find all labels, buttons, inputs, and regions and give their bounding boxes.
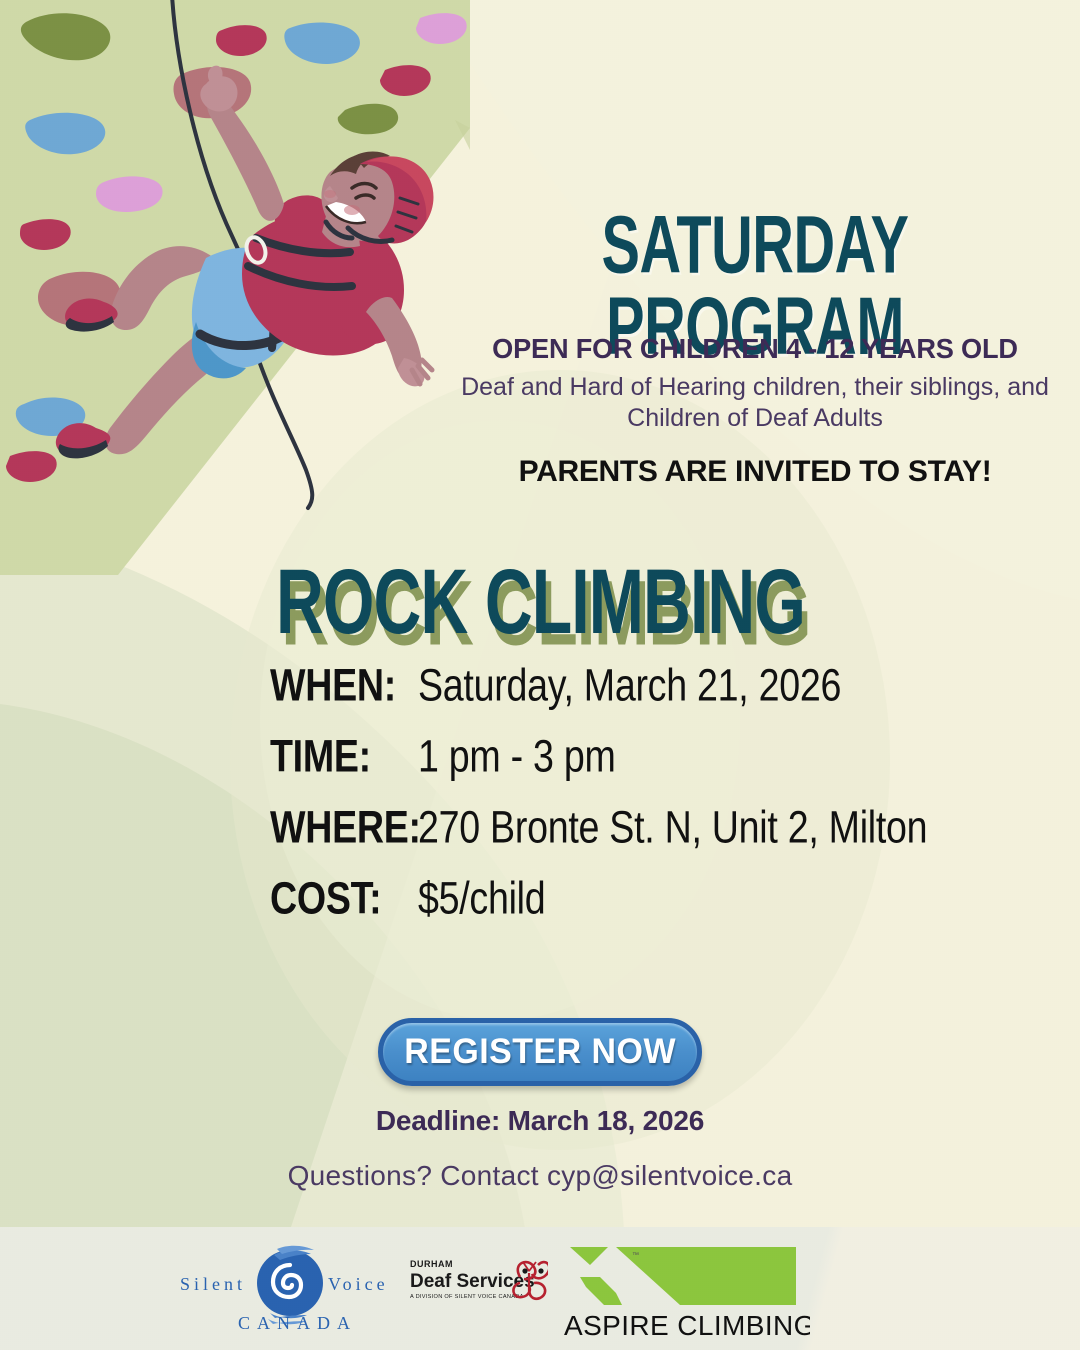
silent-voice-logo-svg: Silent Voice CANADA [178,1245,403,1335]
register-now-button[interactable]: REGISTER NOW [378,1018,702,1086]
poster-root: SATURDAY PROGRAM OPEN FOR CHILDREN 4 - 1… [0,0,1080,1350]
footer-bar: Silent Voice CANADA DURHAM Deaf Services… [0,1227,1080,1350]
detail-label-cost: COST: [270,874,409,925]
detail-row-time: TIME: 1 pm - 3 pm [270,738,910,783]
aspire-wordmark: ASPIRE CLIMBING [564,1310,810,1341]
detail-row-cost: COST: $5/child [270,880,910,925]
detail-value-where: 270 Bronte St. N, Unit 2, Milton [418,803,927,854]
durham-line1: DURHAM [410,1259,453,1269]
detail-value-when: Saturday, March 21, 2026 [418,661,841,712]
detail-value-cost: $5/child [418,874,545,925]
durham-deaf-services-logo: DURHAM Deaf Services A DIVISION OF SILEN… [408,1255,548,1317]
detail-row-where: WHERE: 270 Bronte St. N, Unit 2, Milton [270,809,910,854]
eligibility-detail: Deaf and Hard of Hearing children, their… [460,372,1050,434]
event-details: WHEN: Saturday, March 21, 2026 TIME: 1 p… [270,667,910,951]
questions-contact: Questions? Contact cyp@silentvoice.ca [230,1160,850,1192]
detail-value-time: 1 pm - 3 pm [418,732,616,783]
activity-title: ROCK CLIMBING ROCK CLIMBING [200,556,880,640]
rope-lower [256,352,312,508]
aspire-mountain-icon: ™ [570,1247,796,1305]
parents-note: PARENTS ARE INVITED TO STAY! [455,455,1055,489]
register-now-label: REGISTER NOW [404,1032,676,1072]
voice-word: Voice [328,1274,389,1294]
aspire-climbing-logo: ™ ASPIRE CLIMBING [560,1243,810,1341]
detail-label-when: WHEN: [270,661,409,712]
eligibility-heading: OPEN FOR CHILDREN 4 - 12 YEARS OLD [464,333,1046,365]
deadline-text: Deadline: March 18, 2026 [240,1105,840,1137]
climber-svg [0,0,470,575]
durham-logo-svg: DURHAM Deaf Services A DIVISION OF SILEN… [408,1255,548,1317]
silent-word: Silent [180,1274,246,1294]
climber-illustration [0,0,470,575]
activity-title-front: ROCK CLIMBING [276,551,805,653]
canada-word: CANADA [238,1313,357,1333]
detail-label-where: WHERE: [270,803,409,854]
detail-label-time: TIME: [270,732,409,783]
aspire-logo-svg: ™ ASPIRE CLIMBING [560,1243,810,1341]
durham-line2: Deaf Services [410,1271,535,1292]
aspire-tm-mark: ™ [632,1252,639,1259]
silent-voice-canada-logo: Silent Voice CANADA [178,1245,403,1335]
durham-line3: A DIVISION OF SILENT VOICE CANADA [410,1294,524,1300]
detail-row-when: WHEN: Saturday, March 21, 2026 [270,667,910,712]
